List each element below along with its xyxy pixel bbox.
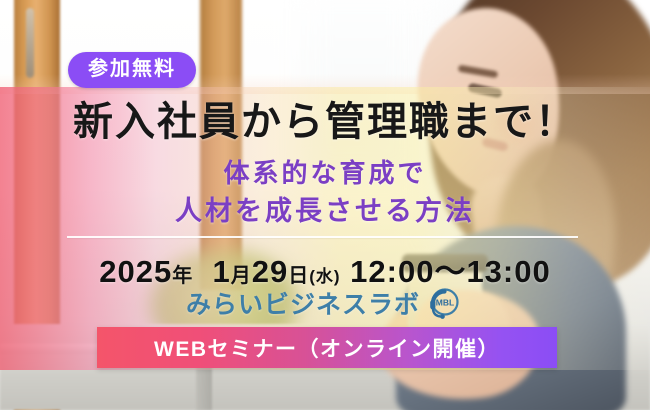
subheadline-line-1: 体系的な育成で — [223, 158, 426, 188]
divider-line — [67, 236, 578, 238]
subheadline-line-2: 人材を成長させる方法 — [0, 192, 650, 230]
brand-mark-label: MBL — [436, 298, 454, 308]
headline: 新入社員から管理職まで！ — [0, 100, 650, 145]
brand-logo: みらいビジネスラボ MBL — [0, 283, 650, 323]
brand-logo-text: みらいビジネスラボ — [186, 285, 420, 321]
banner-content: 参加無料 新入社員から管理職まで！ 体系的な育成で 人材を成長させる方法 202… — [0, 0, 650, 410]
free-admission-badge: 参加無料 — [68, 52, 196, 88]
headset-circle-icon: MBL — [424, 283, 464, 323]
subheadline: 体系的な育成で 人材を成長させる方法 — [0, 155, 650, 230]
webinar-ribbon-label: WEBセミナー（オンライン開催） — [154, 333, 500, 363]
seminar-banner: 参加無料 新入社員から管理職まで！ 体系的な育成で 人材を成長させる方法 202… — [0, 0, 650, 410]
webinar-ribbon: WEBセミナー（オンライン開催） — [97, 327, 557, 368]
